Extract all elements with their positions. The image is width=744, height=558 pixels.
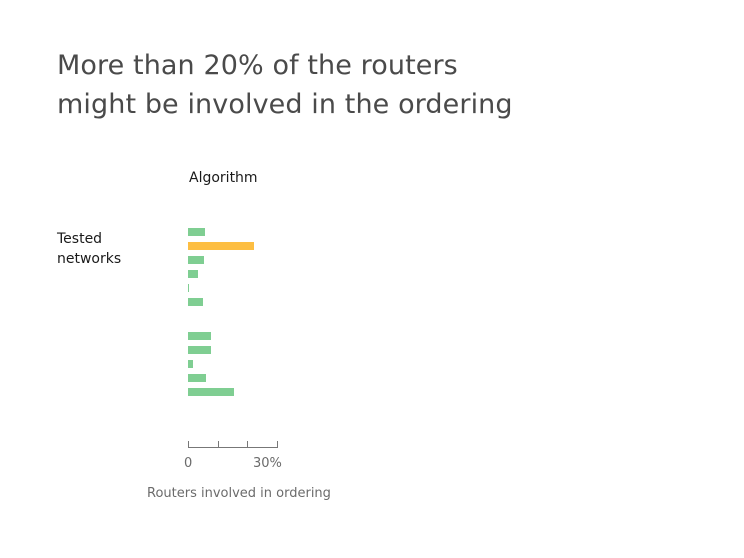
x-axis-line: [188, 447, 277, 448]
bar[interactable]: [188, 388, 234, 396]
bar-row: [188, 284, 488, 292]
x-axis-tick-label: 0: [184, 456, 192, 471]
bar[interactable]: [188, 228, 205, 236]
bar-row: [188, 298, 488, 306]
bar-group-gap: [188, 312, 488, 332]
bar[interactable]: [188, 374, 206, 382]
bar[interactable]: [188, 284, 189, 292]
bar[interactable]: [188, 360, 193, 368]
bar-row: [188, 346, 488, 354]
bar[interactable]: [188, 270, 198, 278]
bar[interactable]: [188, 256, 204, 264]
x-axis-tick-label: 30%: [253, 456, 282, 471]
bar-row: [188, 332, 488, 340]
bar-row: [188, 228, 488, 236]
row-group-label: Tested networks: [57, 229, 177, 269]
bar[interactable]: [188, 332, 211, 340]
bar-row: [188, 256, 488, 264]
bar[interactable]: [188, 298, 203, 306]
bar-highlighted[interactable]: [188, 242, 254, 250]
bar[interactable]: [188, 346, 211, 354]
x-axis-tick: [277, 441, 278, 448]
bar-row: [188, 374, 488, 382]
row-group-label-line-2: networks: [57, 249, 177, 269]
row-group-label-line-1: Tested: [57, 229, 177, 249]
bar-chart: Algorithm Tested networks 030% Routers i…: [0, 0, 744, 558]
bar-row: [188, 270, 488, 278]
x-axis-tick: [188, 441, 189, 448]
x-axis-tick: [218, 441, 219, 448]
x-axis-tick: [247, 441, 248, 448]
bar-row: [188, 388, 488, 396]
plot-area: [188, 228, 488, 432]
x-axis-caption: Routers involved in ordering: [147, 486, 331, 501]
bar-row: [188, 360, 488, 368]
x-axis: 030%: [188, 438, 277, 448]
series-header-label: Algorithm: [189, 170, 258, 186]
bar-row: [188, 242, 488, 250]
